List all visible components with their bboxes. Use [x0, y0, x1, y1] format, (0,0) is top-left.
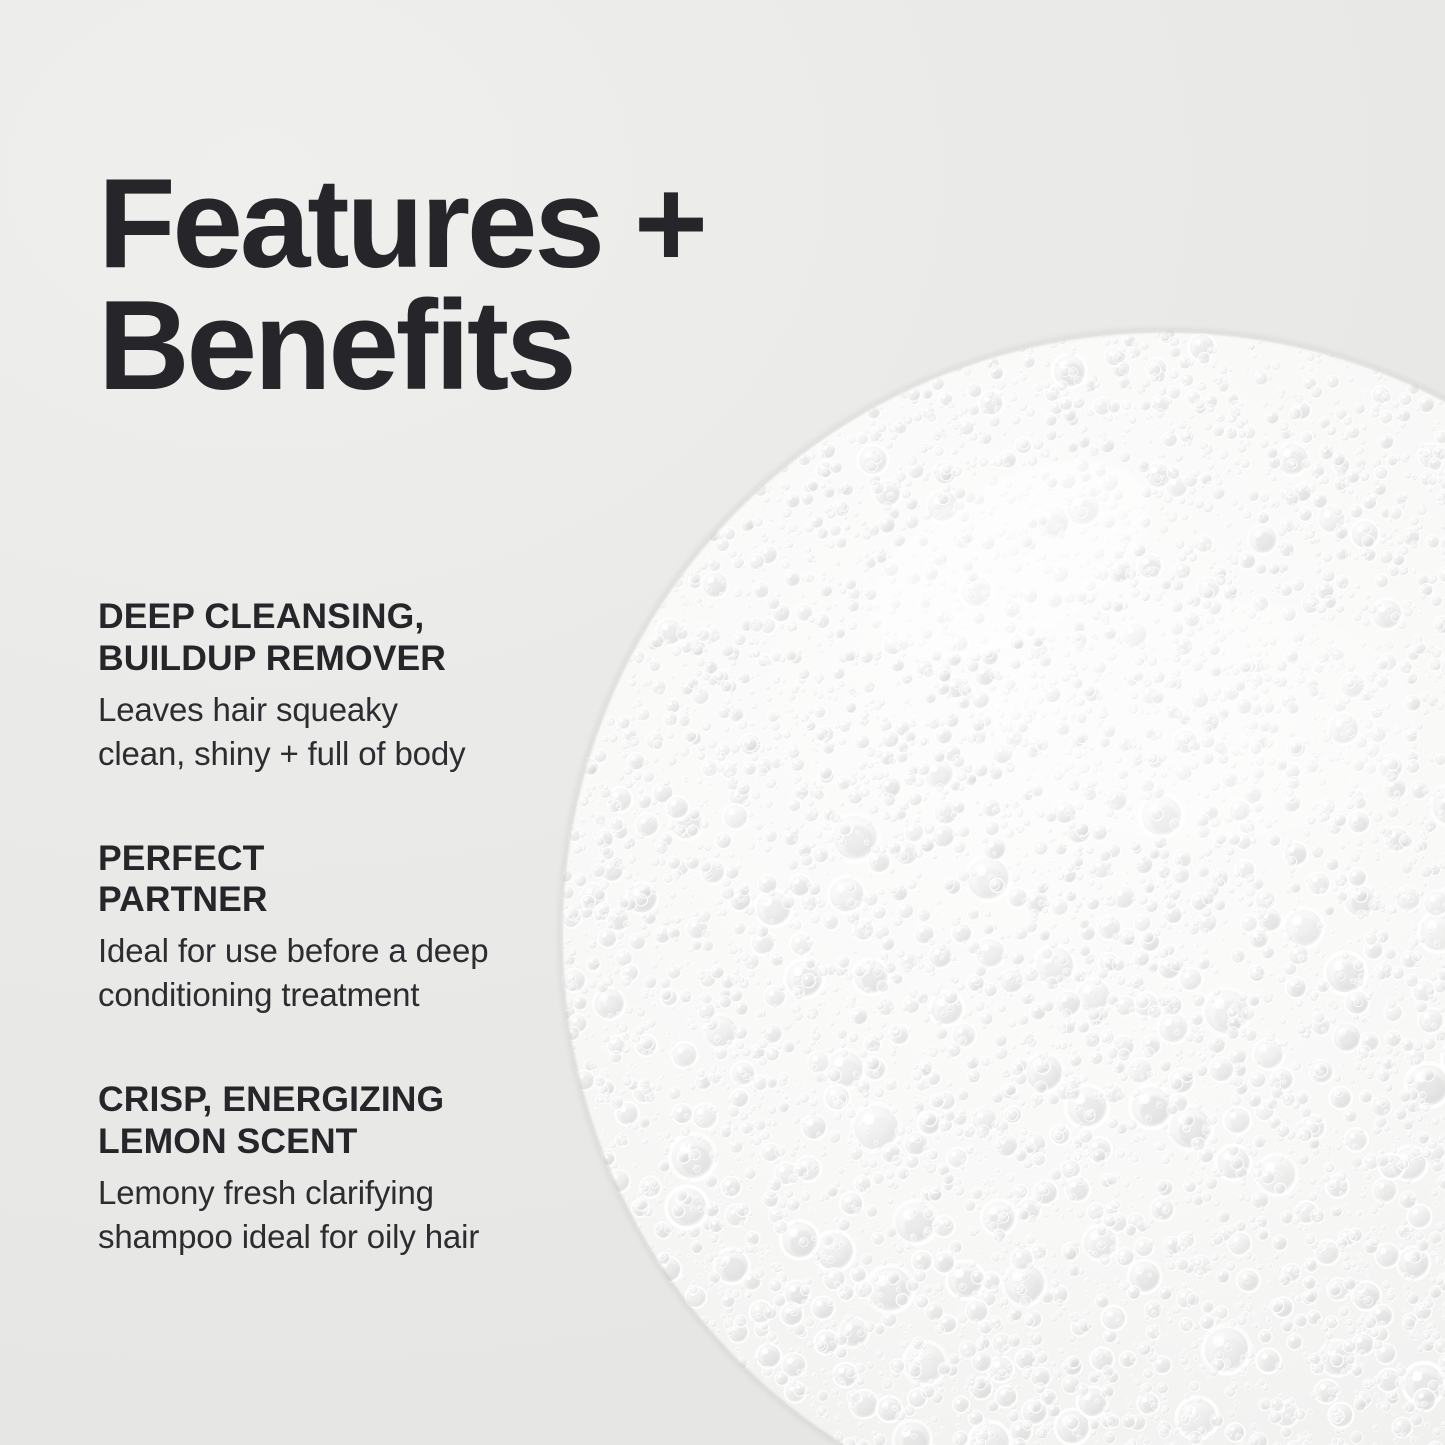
feature-block-lemon-scent: CRISP, ENERGIZING LEMON SCENT Lemony fre… [98, 1079, 578, 1259]
feature-heading: PERFECT PARTNER [98, 838, 578, 922]
droplet-inner-rim [561, 331, 1445, 1445]
feature-body: Ideal for use before a deep conditioning… [98, 929, 578, 1017]
droplet-body [558, 325, 1445, 1445]
specular-highlight [841, 421, 1179, 700]
specular-highlight-secondary [995, 600, 1415, 840]
page-title: Features + Benefits [98, 163, 798, 407]
feature-block-perfect-partner: PERFECT PARTNER Ideal for use before a d… [98, 838, 578, 1018]
feature-body: Lemony fresh clarifying shampoo ideal fo… [98, 1171, 578, 1259]
features-list: DEEP CLEANSING, BUILDUP REMOVER Leaves h… [98, 596, 578, 1259]
marketing-card: Features + Benefits DEEP CLEANSING, BUIL… [0, 0, 1445, 1445]
feature-heading: DEEP CLEANSING, BUILDUP REMOVER [98, 596, 578, 680]
droplet-base-fill [560, 330, 1445, 1445]
feature-block-deep-cleansing: DEEP CLEANSING, BUILDUP REMOVER Leaves h… [98, 596, 578, 776]
bubble-cluster [558, 325, 1445, 1445]
feature-body: Leaves hair squeaky clean, shiny + full … [98, 688, 578, 776]
droplet-edge-shadow [560, 330, 1445, 1445]
feature-heading: CRISP, ENERGIZING LEMON SCENT [98, 1079, 578, 1163]
